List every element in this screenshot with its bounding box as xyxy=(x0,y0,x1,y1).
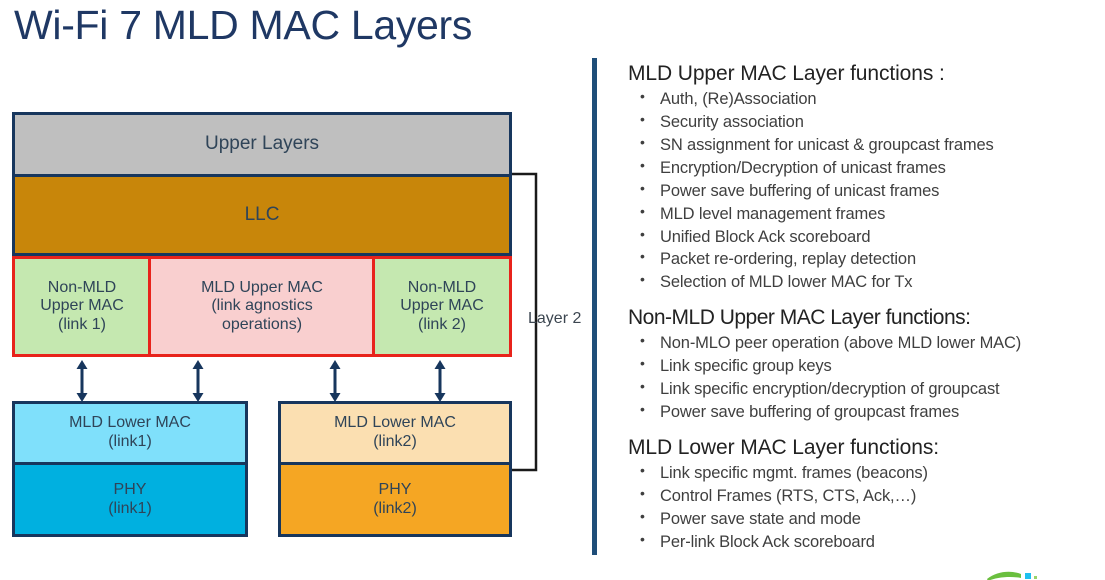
block-upper-layers: Upper Layers xyxy=(12,112,512,177)
block-phy-link2: PHY (link2) xyxy=(278,465,512,537)
block-mld-lower-mac-link1: MLD Lower MAC (link1) xyxy=(12,401,248,465)
double-arrow-link2-right xyxy=(432,360,448,402)
block-non-mld-upper-mac-link1-line3: (link 1) xyxy=(58,316,106,335)
double-arrow-link2-left xyxy=(327,360,343,402)
double-arrow-link1-left xyxy=(74,360,90,402)
block-non-mld-upper-mac-link2: Non-MLD Upper MAC (link 2) xyxy=(372,256,512,357)
double-arrow-link1-right xyxy=(190,360,206,402)
block-mld-lower-mac-link2: MLD Lower MAC (link2) xyxy=(278,401,512,465)
list-item: Link specific group keys xyxy=(628,355,1098,378)
list-item: SN assignment for unicast & groupcast fr… xyxy=(628,134,1098,157)
block-mld-upper-mac-line2: (link agnostics xyxy=(211,297,312,316)
block-phy-link1-line1: PHY xyxy=(114,481,147,500)
block-phy-link1-line2: (link1) xyxy=(108,500,152,519)
block-llc-label: LLC xyxy=(245,204,280,226)
block-mld-lower-mac-link2-line1: MLD Lower MAC xyxy=(334,414,456,433)
section-heading-mld-upper-mac: MLD Upper MAC Layer functions : xyxy=(628,62,1098,86)
block-non-mld-upper-mac-link2-line1: Non-MLD xyxy=(408,279,476,298)
list-item: Security association xyxy=(628,111,1098,134)
list-item: Power save state and mode xyxy=(628,508,1098,531)
block-mld-lower-mac-link1-line2: (link1) xyxy=(108,433,152,452)
block-non-mld-upper-mac-link1: Non-MLD Upper MAC (link 1) xyxy=(12,256,152,357)
list-item: Per-link Block Ack scoreboard xyxy=(628,531,1098,554)
corner-logo-icon xyxy=(985,566,1045,580)
list-item: Link specific mgmt. frames (beacons) xyxy=(628,462,1098,485)
bullet-list-non-mld-upper-mac: Non-MLO peer operation (above MLD lower … xyxy=(628,332,1098,424)
block-llc: LLC xyxy=(12,177,512,256)
block-mld-lower-mac-link1-line1: MLD Lower MAC xyxy=(69,414,191,433)
block-non-mld-upper-mac-link1-line1: Non-MLD xyxy=(48,279,116,298)
list-item: Link specific encryption/decryption of g… xyxy=(628,378,1098,401)
list-item: Non-MLO peer operation (above MLD lower … xyxy=(628,332,1098,355)
section-heading-mld-lower-mac: MLD Lower MAC Layer functions: xyxy=(628,436,1098,460)
block-phy-link1: PHY (link1) xyxy=(12,465,248,537)
block-mld-upper-mac-line3: operations) xyxy=(222,316,302,335)
layer2-label: Layer 2 xyxy=(528,310,581,328)
bullet-list-mld-upper-mac: Auth, (Re)Association Security associati… xyxy=(628,88,1098,294)
mld-mac-stack-diagram: Upper Layers LLC Non-MLD Upper MAC (link… xyxy=(0,0,580,580)
functions-panel: MLD Upper MAC Layer functions : Auth, (R… xyxy=(628,62,1098,566)
section-heading-non-mld-upper-mac: Non-MLD Upper MAC Layer functions: xyxy=(628,306,1098,330)
block-phy-link2-line1: PHY xyxy=(379,481,412,500)
block-non-mld-upper-mac-link2-line2: Upper MAC xyxy=(400,297,484,316)
list-item: Selection of MLD lower MAC for Tx xyxy=(628,271,1098,294)
list-item: Control Frames (RTS, CTS, Ack,…) xyxy=(628,485,1098,508)
block-upper-layers-label: Upper Layers xyxy=(205,133,319,155)
list-item: Power save buffering of groupcast frames xyxy=(628,401,1098,424)
list-item: Unified Block Ack scoreboard xyxy=(628,226,1098,249)
slide-canvas: Wi-Fi 7 MLD MAC Layers Upper Layers LLC … xyxy=(0,0,1105,580)
block-non-mld-upper-mac-link1-line2: Upper MAC xyxy=(40,297,124,316)
list-item: Encryption/Decryption of unicast frames xyxy=(628,157,1098,180)
block-non-mld-upper-mac-link2-line3: (link 2) xyxy=(418,316,466,335)
block-mld-lower-mac-link2-line2: (link2) xyxy=(373,433,417,452)
list-item: Packet re-ordering, replay detection xyxy=(628,248,1098,271)
block-mld-upper-mac-line1: MLD Upper MAC xyxy=(201,279,323,298)
list-item: Auth, (Re)Association xyxy=(628,88,1098,111)
list-item: MLD level management frames xyxy=(628,203,1098,226)
block-mld-upper-mac: MLD Upper MAC (link agnostics operations… xyxy=(148,256,376,357)
bullet-list-mld-lower-mac: Link specific mgmt. frames (beacons) Con… xyxy=(628,462,1098,554)
block-phy-link2-line2: (link2) xyxy=(373,500,417,519)
vertical-divider xyxy=(592,58,597,555)
list-item: Power save buffering of unicast frames xyxy=(628,180,1098,203)
